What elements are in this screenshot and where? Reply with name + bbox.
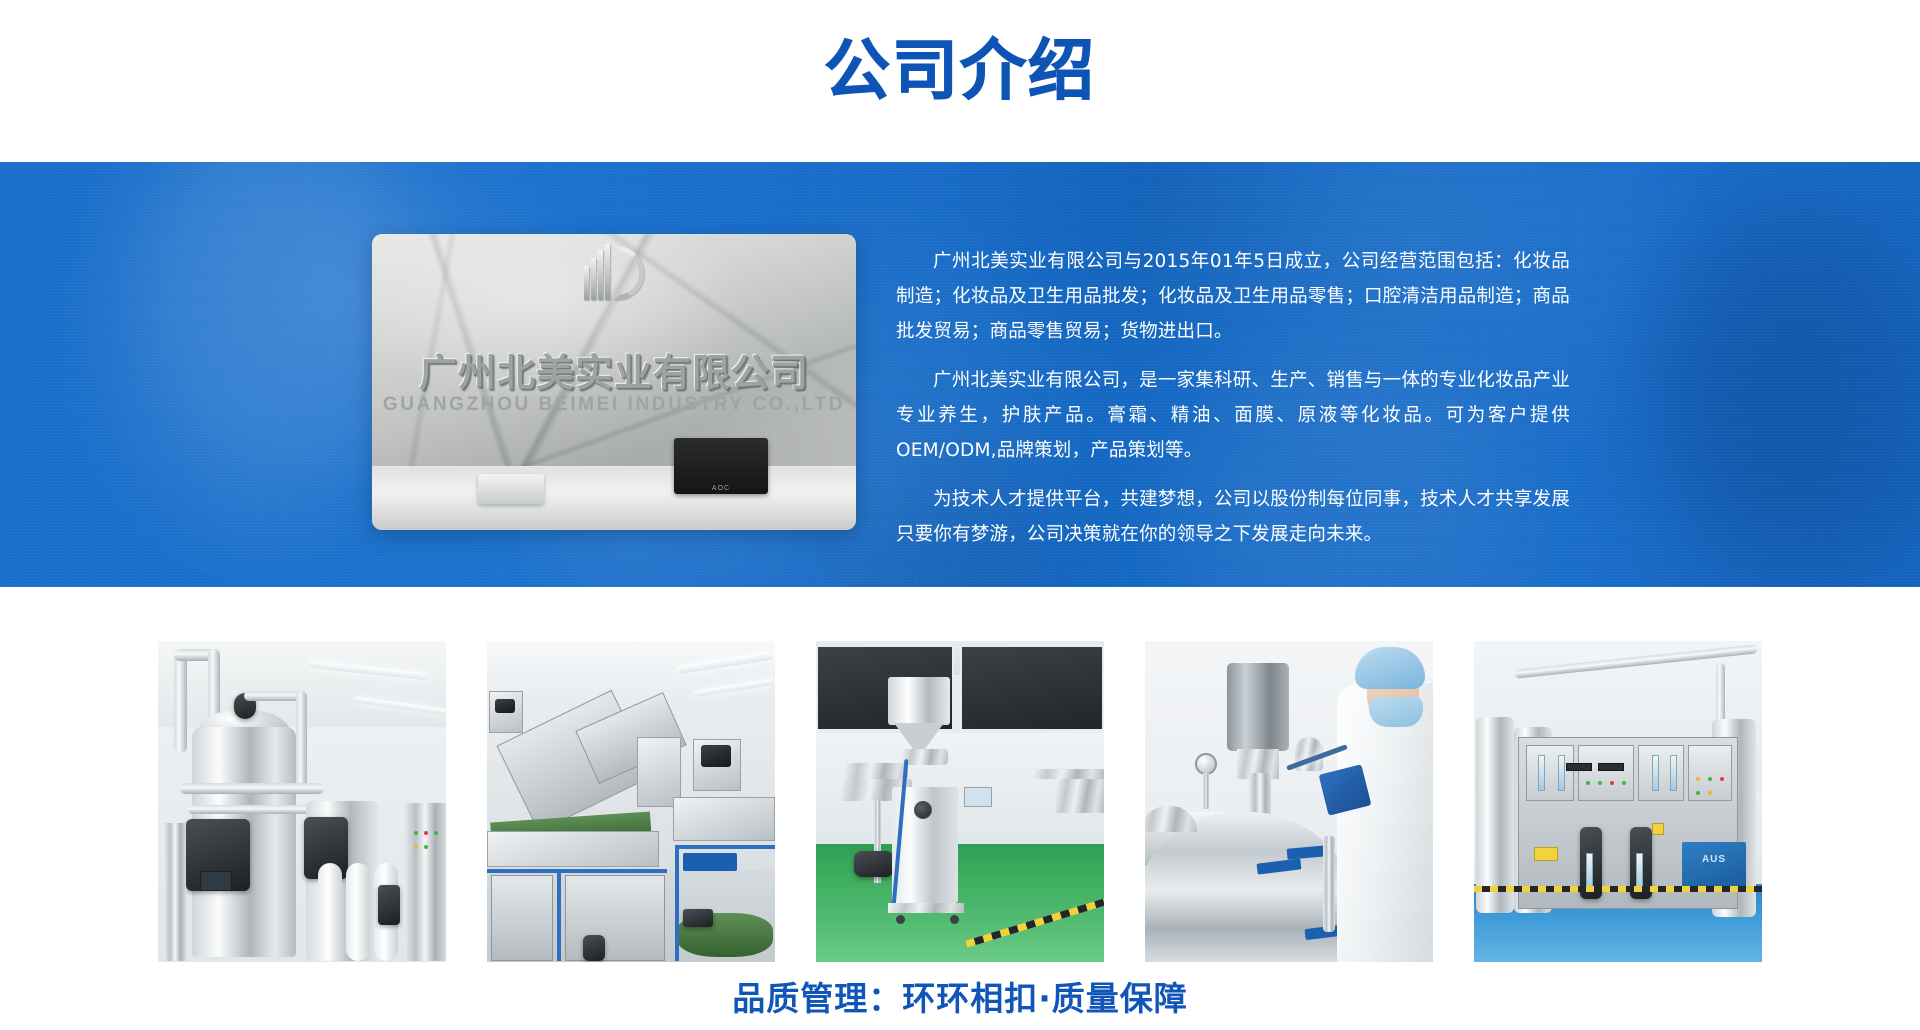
photo-mixing-operator[interactable] (1145, 641, 1433, 962)
intro-paragraph: 广州北美实业有限公司与2015年01年5日成立，公司经营范围包括：化妆品制造；化… (896, 244, 1570, 349)
monitor-object (674, 438, 768, 494)
photo-water-treatment[interactable] (158, 641, 446, 962)
company-intro-text: 广州北美实业有限公司与2015年01年5日成立，公司经营范围包括：化妆品制造；化… (896, 244, 1570, 552)
intro-paragraph: 广州北美实业有限公司，是一家集科研、生产、销售与一体的专业化妆品产业专业养生，护… (896, 363, 1570, 468)
printer-object (478, 474, 544, 504)
factory-photo-gallery: AUS (158, 641, 1762, 962)
sign-company-name-cn: 广州北美实业有限公司 (372, 342, 856, 397)
photo-packaging-line[interactable] (487, 641, 775, 962)
ro-brand-label: AUS (1682, 842, 1746, 888)
intro-paragraph: 为技术人才提供平台，共建梦想，公司以股份制每位同事，技术人才共享发展只要你有梦游… (896, 482, 1570, 552)
company-sign-photo: 广州北美实业有限公司 GUANGZHOU BEIMEI INDUSTRY CO.… (372, 234, 856, 530)
banner-shadow-blob (1660, 202, 1920, 582)
photo-filling-machine[interactable] (816, 641, 1104, 962)
company-logo-icon (584, 244, 644, 300)
sign-company-name-en: GUANGZHOU BEIMEI INDUSTRY CO.,LTD (372, 394, 856, 416)
company-introduction-page: 公司介绍 广州北美实业有限公司 GUANGZHOU BEIMEI INDUSTR… (0, 0, 1920, 1030)
reception-desk (372, 466, 856, 530)
photo-ro-system[interactable]: AUS (1474, 641, 1762, 962)
page-title: 公司介绍 (0, 38, 1920, 104)
bottom-caption: 品质管理：环环相扣·质量保障 (0, 982, 1920, 1015)
